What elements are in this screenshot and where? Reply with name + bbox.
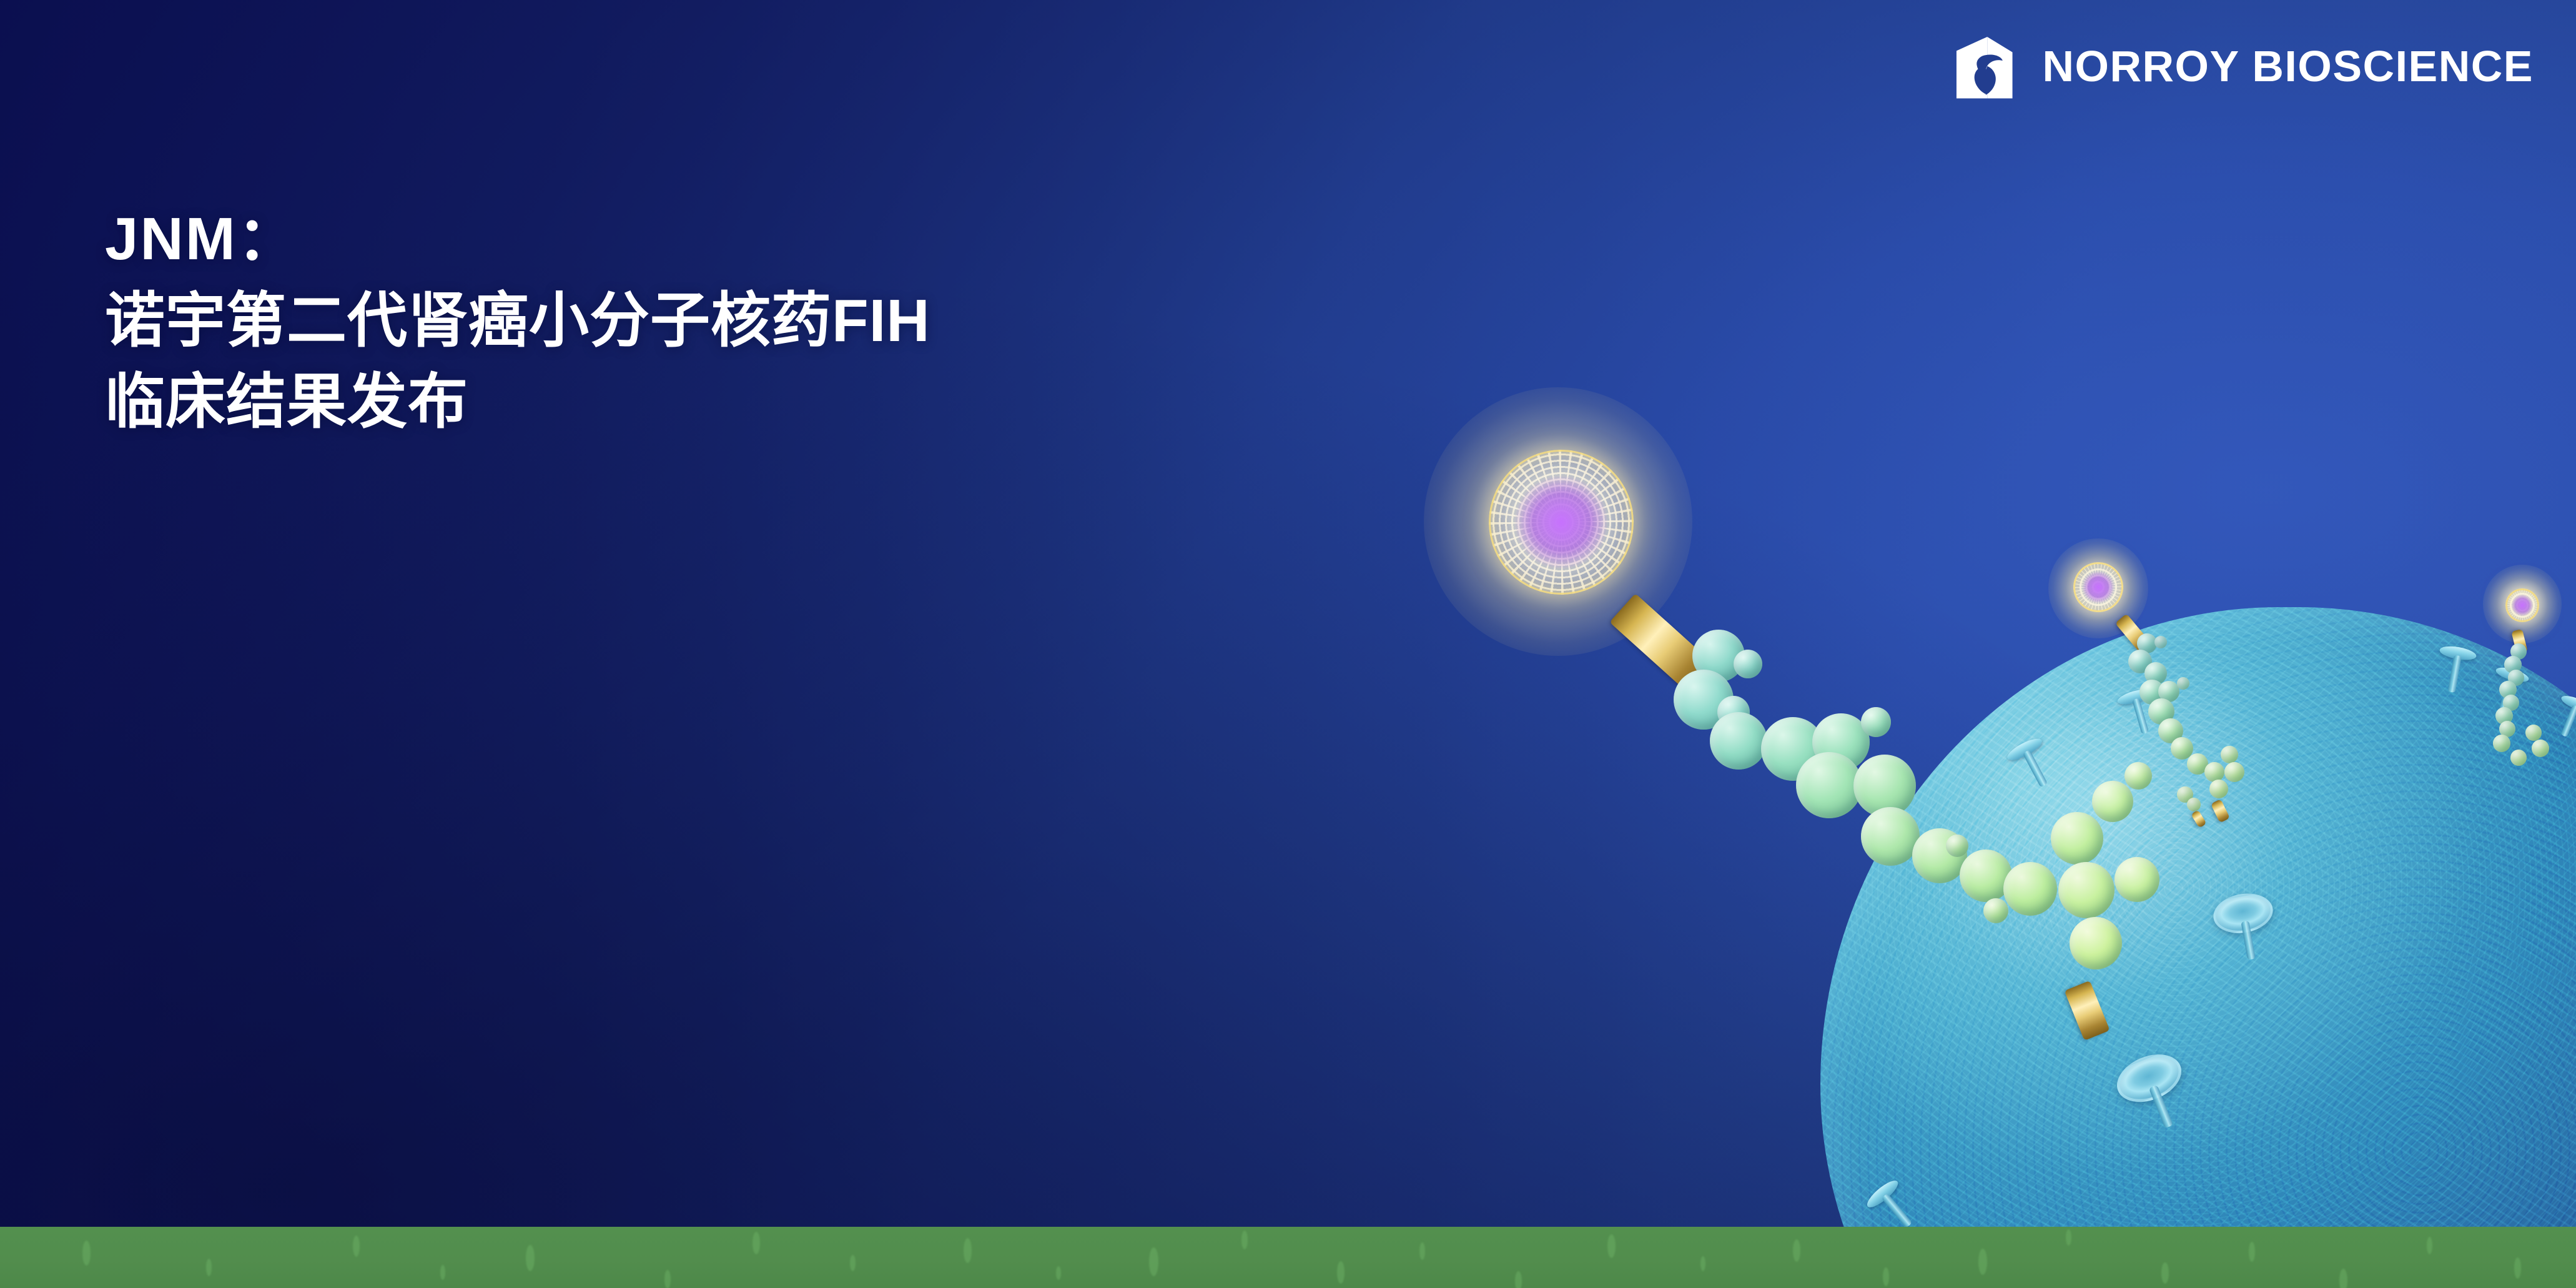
band-speck (1883, 1267, 1889, 1286)
page-title: JNM： 诺宇第二代肾癌小分子核药FIH 临床结果发布 (105, 199, 930, 443)
norroy-tulip-book-mark-icon (1951, 31, 2021, 101)
band-speck (2427, 1237, 2432, 1254)
bottom-green-band (0, 1227, 2576, 1288)
headline-line-3: 临床结果发布 (105, 362, 930, 443)
band-speck (1515, 1271, 1522, 1288)
band-speck (2161, 1262, 2169, 1284)
band-speck (1149, 1247, 1158, 1276)
band-speck (1056, 1266, 1061, 1280)
band-speck (664, 1270, 671, 1288)
band-speck (2339, 1269, 2347, 1288)
band-speck (526, 1245, 535, 1271)
band-speck (82, 1241, 91, 1266)
band-speck (1607, 1234, 1616, 1258)
band-speck (1337, 1261, 1345, 1284)
band-speck (2514, 1257, 2521, 1279)
brand-wordmark: NORROY BIOSCIENCE (2042, 44, 2534, 88)
banner-root: JNM： 诺宇第二代肾癌小分子核药FIH 临床结果发布 NORROY BIOSC… (0, 0, 2576, 1288)
band-speck (206, 1259, 212, 1276)
band-speck (1978, 1249, 1987, 1275)
band-speck (1700, 1256, 1705, 1271)
band-speck (1241, 1231, 1248, 1249)
headline-line-2: 诺宇第二代肾癌小分子核药FIH (105, 280, 930, 362)
band-speck (1793, 1239, 1800, 1262)
band-speck (964, 1238, 972, 1263)
band-speck (1419, 1242, 1425, 1260)
band-speck (2249, 1242, 2255, 1262)
band-speck (753, 1232, 760, 1254)
band-speck (2066, 1229, 2071, 1246)
band-speck (353, 1236, 360, 1257)
band-speck (850, 1255, 856, 1271)
brand-logo[interactable]: NORROY BIOSCIENCE (1951, 31, 2534, 101)
headline-line-1: JNM： (105, 199, 930, 280)
band-speck (440, 1265, 445, 1280)
background-vignette (0, 0, 2576, 1288)
